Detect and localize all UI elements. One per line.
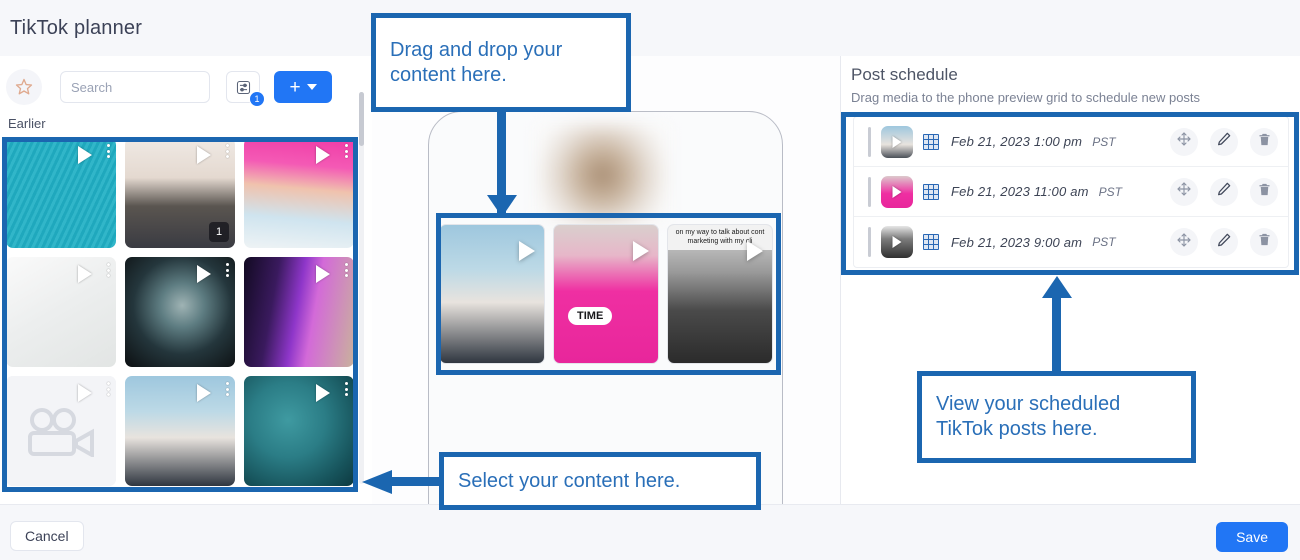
plus-icon: + [289,78,300,97]
schedule-list-highlight [841,112,1299,275]
dialog-footer: Cancel Save [0,504,1300,560]
tiktok-planner-dialog: TikTok planner Search [0,0,1300,560]
filter-count-badge: 1 [249,91,265,107]
annotation-select-content-text: Select your content here. [444,469,756,494]
media-scrollbar-track[interactable] [359,92,364,484]
post-schedule-subtitle: Drag media to the phone preview grid to … [851,90,1200,105]
dialog-title-bar: TikTok planner [0,0,1300,56]
page-title: TikTok planner [10,17,142,40]
search-input[interactable]: Search [60,71,210,103]
profile-avatar-blurred [535,124,670,222]
filter-sliders-icon [235,79,252,96]
favorites-button[interactable] [6,69,42,105]
media-scrollbar-thumb[interactable] [359,92,364,146]
annotation-view-scheduled: View your scheduled TikTok posts here. [917,371,1196,463]
post-schedule-title: Post schedule [851,65,958,85]
annotation-view-scheduled-arrow-head [1042,276,1072,298]
star-icon [14,77,34,97]
annotation-select-content: Select your content here. [439,452,761,510]
add-media-button[interactable]: + [274,71,332,103]
chevron-down-icon [307,84,317,90]
media-section-label: Earlier [8,116,46,131]
annotation-select-content-arrow-stem [390,477,442,486]
annotation-view-scheduled-arrow-stem [1052,296,1061,374]
search-placeholder: Search [71,80,112,95]
annotation-drag-drop: Drag and drop your content here. [371,13,631,112]
media-grid-highlight [2,137,358,492]
save-button[interactable]: Save [1216,522,1288,552]
media-toolbar: Search 1 + [0,61,372,113]
cancel-button[interactable]: Cancel [10,521,84,551]
annotation-select-content-arrow-head [362,470,392,494]
preview-grid-highlight [436,213,781,375]
filter-button[interactable]: 1 [226,71,260,103]
annotation-drag-drop-text: Drag and drop your content here. [376,38,626,88]
annotation-drag-drop-arrow-head [487,195,517,217]
annotation-view-scheduled-text: View your scheduled TikTok posts here. [922,392,1191,442]
